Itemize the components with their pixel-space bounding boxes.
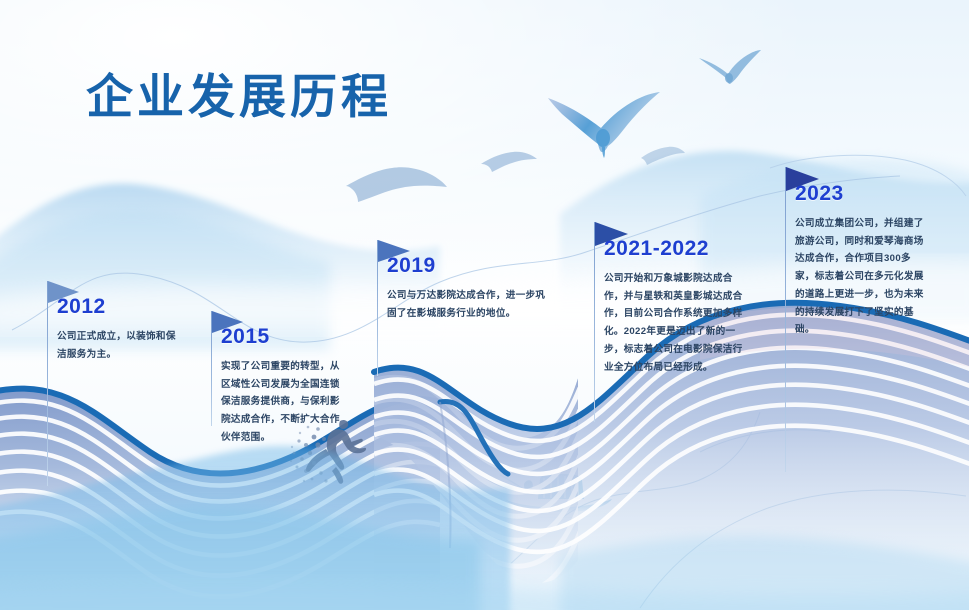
milestone-2015[interactable]: 2015 实现了公司重要的转型，从区域性公司发展为全国连锁保洁服务提供商，与保利… bbox=[221, 325, 349, 447]
flag-staff bbox=[594, 222, 595, 422]
page-title: 企业发展历程 bbox=[86, 58, 392, 127]
milestone-2023[interactable]: 2023 公司成立集团公司，并组建了旅游公司，同时和爱琴海商场达成合作，合作项目… bbox=[795, 182, 929, 339]
poster-canvas: 企业发展历程 2012 公司正式成立，以装饰和保洁服务为主。 2015 实现了公… bbox=[0, 0, 969, 610]
flag-staff bbox=[47, 281, 48, 486]
milestone-description: 公司正式成立，以装饰和保洁服务为主。 bbox=[57, 328, 185, 363]
milestone-year: 2012 bbox=[57, 295, 185, 319]
milestone-year: 2021-2022 bbox=[604, 237, 744, 261]
milestone-year: 2019 bbox=[387, 254, 547, 278]
milestone-description: 公司与万达影院达成合作，进一步巩固了在影城服务行业的地位。 bbox=[387, 287, 547, 322]
milestone-description: 公司成立集团公司，并组建了旅游公司，同时和爱琴海商场达成合作，合作项目300多家… bbox=[795, 215, 929, 339]
milestone-description: 实现了公司重要的转型，从区域性公司发展为全国连锁保洁服务提供商，与保利影院达成合… bbox=[221, 358, 349, 447]
milestone-year: 2015 bbox=[221, 325, 349, 349]
milestone-2021-2022[interactable]: 2021-2022 公司开始和万象城影院达成合作，并与星轶和英皇影城达成合作，目… bbox=[604, 237, 744, 376]
milestone-2012[interactable]: 2012 公司正式成立，以装饰和保洁服务为主。 bbox=[57, 295, 185, 363]
milestone-description: 公司开始和万象城影院达成合作，并与星轶和英皇影城达成合作，目前公司合作系统更加多… bbox=[604, 270, 744, 376]
milestone-2019[interactable]: 2019 公司与万达影院达成合作，进一步巩固了在影城服务行业的地位。 bbox=[387, 254, 547, 322]
flag-staff bbox=[785, 167, 786, 472]
milestone-year: 2023 bbox=[795, 182, 929, 206]
